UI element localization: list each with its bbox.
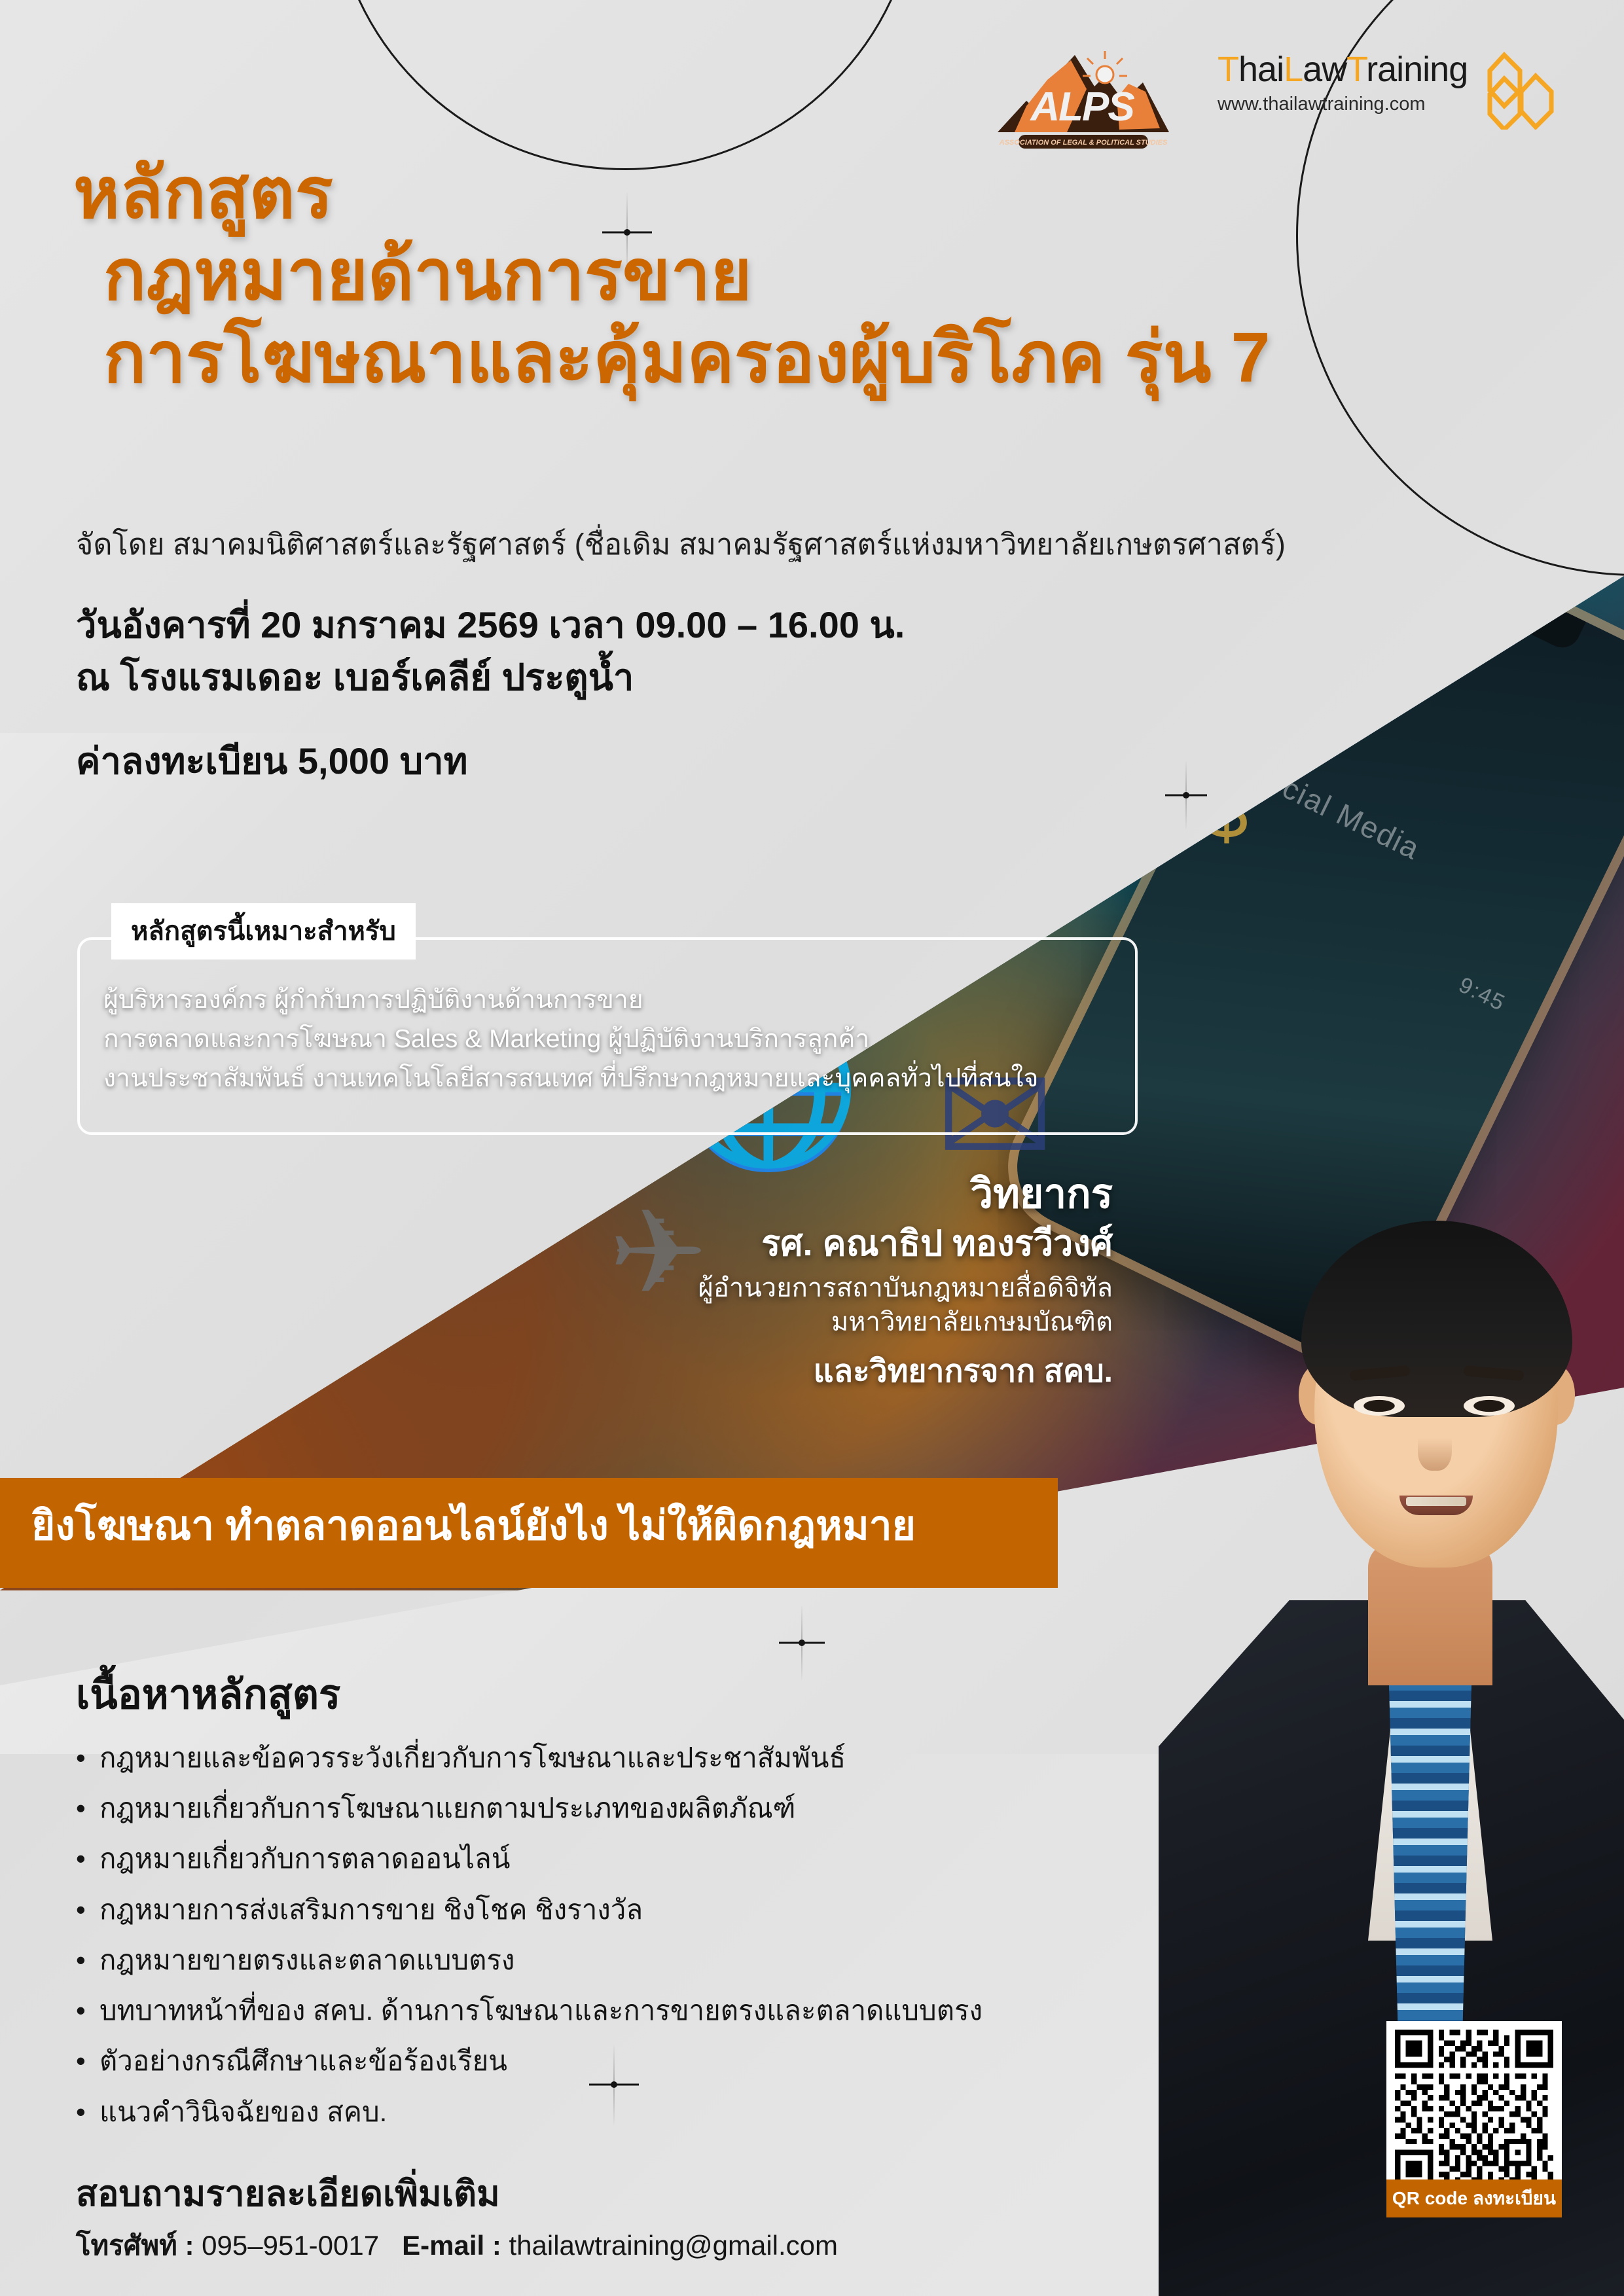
alps-tagline: ASSOCIATION OF LEGAL & POLITICAL STUDIES <box>999 139 1168 147</box>
list-item-label: กฎหมายและข้อควรระวังเกี่ยวกับการโฆษณาและ… <box>99 1741 1025 1774</box>
registration-fee: ค่าลงทะเบียน 5,000 บาท <box>76 732 468 790</box>
sparkle-icon <box>779 1604 825 1682</box>
portrait-eye-right <box>1464 1396 1515 1416</box>
portrait-teeth <box>1406 1497 1466 1506</box>
contact-heading: สอบถามรายละเอียดเพิ่มเติม <box>76 2165 500 2221</box>
event-venue-line: ณ โรงแรมเดอะ เบอร์เคลีย์ ประตูน้ำ <box>76 651 905 704</box>
speaker-role-line-2: มหาวิทยาลัยเกษมบัณฑิต <box>484 1305 1113 1339</box>
honeycomb-logo-icon <box>1478 51 1563 130</box>
contact-details: โทรศัพท์ : 095–951-0017 E-mail : thailaw… <box>76 2224 838 2267</box>
brand-letter-t1: T <box>1218 50 1238 89</box>
speaker-role-line-1: ผู้อำนวยการสถาบันกฎหมายสื่อดิจิทัล <box>484 1271 1113 1305</box>
brand-part-hai: hai <box>1238 50 1284 89</box>
email-address[interactable]: thailawtraining@gmail.com <box>509 2230 839 2261</box>
title-line-3: การโฆษณาและคุ้มครองผู้บริโภค รุ่น 7 <box>73 316 1579 398</box>
phone-number[interactable]: 095–951-0017 <box>202 2230 379 2261</box>
brand-letter-t2: T <box>1346 50 1366 89</box>
suitable-for-box: หลักสูตรนี้เหมาะสำหรับ ผู้บริหารองค์กร ผ… <box>77 937 1138 1135</box>
speaker-extra-note: และวิทยากรจาก สคบ. <box>484 1352 1113 1391</box>
list-item: • กฎหมายและข้อควรระวังเกี่ยวกับการโฆษณาแ… <box>76 1741 1025 1774</box>
poster-header: ALPS ASSOCIATION OF LEGAL & POLITICAL ST… <box>0 0 1624 170</box>
course-content-heading: เนื้อหาหลักสูตร <box>76 1662 340 1727</box>
suitable-for-tab-label: หลักสูตรนี้เหมาะสำหรับ <box>111 903 416 960</box>
title-line-2: กฎหมายด้านการขาย <box>73 234 1579 315</box>
event-date-time-line: วันอังคารที่ 20 มกราคม 2569 เวลา 09.00 –… <box>76 599 905 651</box>
portrait-hair <box>1301 1221 1572 1417</box>
orange-headline-banner: ยิงโฆษณา ทำตลาดออนไลน์ยังไง ไม่ให้ผิดกฎห… <box>0 1478 1058 1588</box>
qr-code-image[interactable] <box>1395 2030 1553 2188</box>
list-item-label: กฎหมายเกี่ยวกับการโฆษณาแยกตามประเภทของผล… <box>99 1791 1025 1825</box>
suitable-for-body: ผู้บริหารองค์กร ผู้กำกับการปฏิบัติงานด้า… <box>103 980 1125 1098</box>
bullet-marker-icon: • <box>76 1842 99 1875</box>
speaker-label: วิทยากร <box>484 1170 1113 1219</box>
speaker-name: รศ. คณาธิป ทองรวีวงศ์ <box>484 1221 1113 1266</box>
list-item: • บทบาทหน้าที่ของ สคบ. ด้านการโฆษณาและกา… <box>76 1994 1025 2027</box>
suitable-line: การตลาดและการโฆษณา Sales & Marketing ผู้… <box>103 1020 1125 1059</box>
speaker-icon: 🔊 <box>537 792 679 926</box>
email-label: E-mail : <box>402 2230 501 2261</box>
list-item-label: แนวคำวินิจฉัยของ สคบ. <box>99 2095 1025 2128</box>
alps-mountain-logo: ALPS ASSOCIATION OF LEGAL & POLITICAL ST… <box>988 46 1178 157</box>
qr-code-label: QR code ลงทะเบียน <box>1386 2179 1562 2217</box>
organizer-text: จัดโดย สมาคมนิติศาสตร์และรัฐศาสตร์ (ชื่อ… <box>76 520 1286 567</box>
portrait-eye-left <box>1354 1396 1405 1416</box>
list-item: • แนวคำวินิจฉัยของ สคบ. <box>76 2095 1025 2128</box>
list-item: • กฎหมายขายตรงและตลาดแบบตรง <box>76 1943 1025 1977</box>
bullet-marker-icon: • <box>76 1791 99 1825</box>
svg-text:ALPS: ALPS <box>1029 84 1134 130</box>
bullet-marker-icon: • <box>76 2095 99 2128</box>
suitable-line: ผู้บริหารองค์กร ผู้กำกับการปฏิบัติงานด้า… <box>103 980 1125 1020</box>
phone-label: โทรศัพท์ : <box>76 2230 194 2261</box>
list-item: • ตัวอย่างกรณีศึกษาและข้อร้องเรียน <box>76 2044 1025 2077</box>
banner-text: ยิงโฆษณา ทำตลาดออนไลน์ยังไง ไม่ให้ผิดกฎห… <box>31 1494 1032 1558</box>
list-item-label: กฎหมายขายตรงและตลาดแบบตรง <box>99 1943 1025 1977</box>
event-datetime: วันอังคารที่ 20 มกราคม 2569 เวลา 09.00 –… <box>76 599 905 703</box>
title-line-1: หลักสูตร <box>73 152 1579 234</box>
bullet-marker-icon: • <box>76 2044 99 2077</box>
brand-letter-l: L <box>1284 50 1303 89</box>
list-item: • กฎหมายการส่งเสริมการขาย ชิงโชค ชิงรางว… <box>76 1893 1025 1926</box>
portrait-nose <box>1418 1424 1452 1471</box>
course-content-list: • กฎหมายและข้อควรระวังเกี่ยวกับการโฆษณาแ… <box>76 1741 1025 2145</box>
poster-canvas: Social Media 9:45 🔁 ❤ 🔍 📶 💬 🌐 ✉ ✈ 🔊 ♫ $ <box>0 0 1624 2296</box>
bullet-marker-icon: • <box>76 1994 99 2027</box>
list-item-label: บทบาทหน้าที่ของ สคบ. ด้านการโฆษณาและการข… <box>99 1994 1025 2027</box>
bullet-marker-icon: • <box>76 1893 99 1926</box>
bullet-marker-icon: • <box>76 1741 99 1774</box>
sparkle-icon <box>1165 759 1207 831</box>
speaker-block: วิทยากร รศ. คณาธิป ทองรวีวงศ์ ผู้อำนวยกา… <box>484 1170 1113 1391</box>
suitable-line: งานประชาสัมพันธ์ งานเทคโนโลยีสารสนเทศ ที… <box>103 1059 1125 1098</box>
list-item-label: กฎหมายการส่งเสริมการขาย ชิงโชค ชิงรางวัล <box>99 1893 1025 1926</box>
list-item-label: กฎหมายเกี่ยวกับการตลาดออนไลน์ <box>99 1842 1025 1875</box>
list-item: • กฎหมายเกี่ยวกับการโฆษณาแยกตามประเภทของ… <box>76 1791 1025 1825</box>
list-item: • กฎหมายเกี่ยวกับการตลาดออนไลน์ <box>76 1842 1025 1875</box>
wifi-icon: 📶 <box>170 1165 284 1272</box>
bullet-marker-icon: • <box>76 1943 99 1977</box>
music-note-icon: ♫ <box>746 766 832 897</box>
list-item-label: ตัวอย่างกรณีศึกษาและข้อร้องเรียน <box>99 2044 1025 2077</box>
dollar-icon: $ <box>1204 766 1248 856</box>
brand-part-aw: aw <box>1303 50 1346 89</box>
title-block: หลักสูตร กฎหมายด้านการขาย การโฆษณาและคุ้… <box>73 152 1579 398</box>
brand-part-raining: raining <box>1366 50 1468 89</box>
